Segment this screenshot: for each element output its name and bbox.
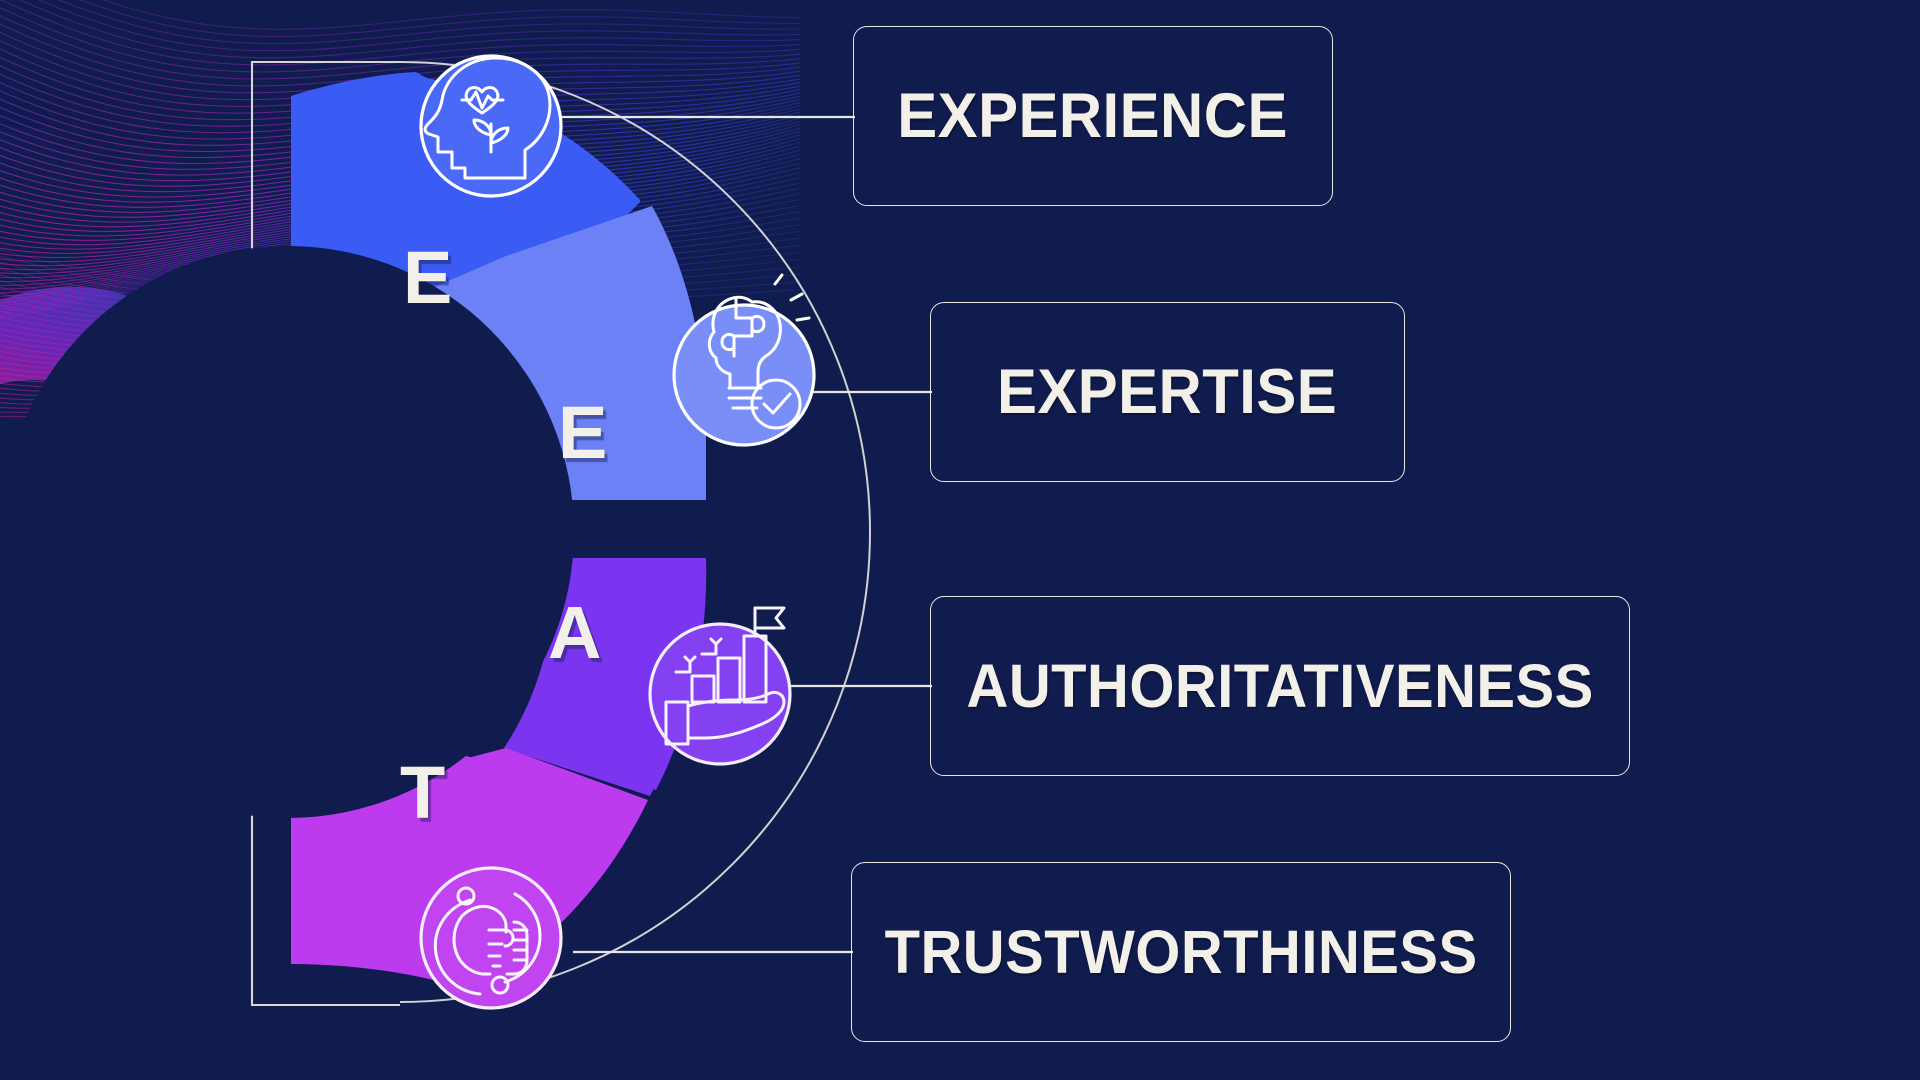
infographic-canvas: E E A T EXPERIENCE EXPERTISE AUTHORITATI… [0, 0, 1920, 1080]
icon-badge-expertise[interactable] [674, 275, 814, 445]
label-text-authoritativeness: AUTHORITATIVENESS [966, 651, 1593, 721]
label-text-trustworthiness: TRUSTWORTHINESS [884, 917, 1477, 987]
label-box-expertise[interactable]: EXPERTISE [930, 302, 1405, 482]
label-text-experience: EXPERIENCE [898, 80, 1289, 152]
icon-badge-experience[interactable] [421, 56, 561, 196]
label-box-trustworthiness[interactable]: TRUSTWORTHINESS [851, 862, 1511, 1042]
icon-badge-trustworthiness[interactable] [421, 868, 561, 1008]
label-box-authoritativeness[interactable]: AUTHORITATIVENESS [930, 596, 1630, 776]
label-box-experience[interactable]: EXPERIENCE [853, 26, 1333, 206]
label-text-expertise: EXPERTISE [997, 356, 1337, 428]
